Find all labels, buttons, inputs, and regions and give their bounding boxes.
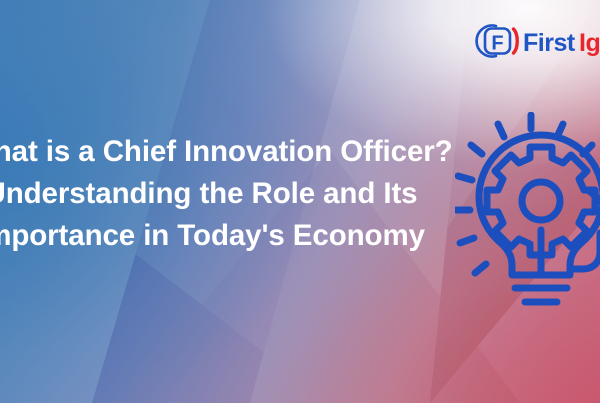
- logo-f-letter: F: [491, 33, 503, 55]
- lightbulb-gear-head-icon: [455, 112, 600, 308]
- headline-line-2: Understanding the Role and Its: [0, 173, 436, 215]
- logo-bracket-icon: [514, 29, 518, 53]
- headline-line-3: Importance in Today's Economy: [0, 215, 436, 257]
- logo-wordmark-primary: First: [523, 29, 576, 57]
- blog-hero-banner: F First Ig What is a Chief Innovation Of…: [0, 0, 600, 403]
- logo-wordmark-accent: Ig: [579, 29, 600, 57]
- site-logo[interactable]: F First Ig: [466, 18, 600, 64]
- headline-line-1: What is a Chief Innovation Officer?: [0, 131, 436, 173]
- gear-center-hole: [522, 182, 560, 220]
- headline: What is a Chief Innovation Officer? Unde…: [0, 131, 436, 257]
